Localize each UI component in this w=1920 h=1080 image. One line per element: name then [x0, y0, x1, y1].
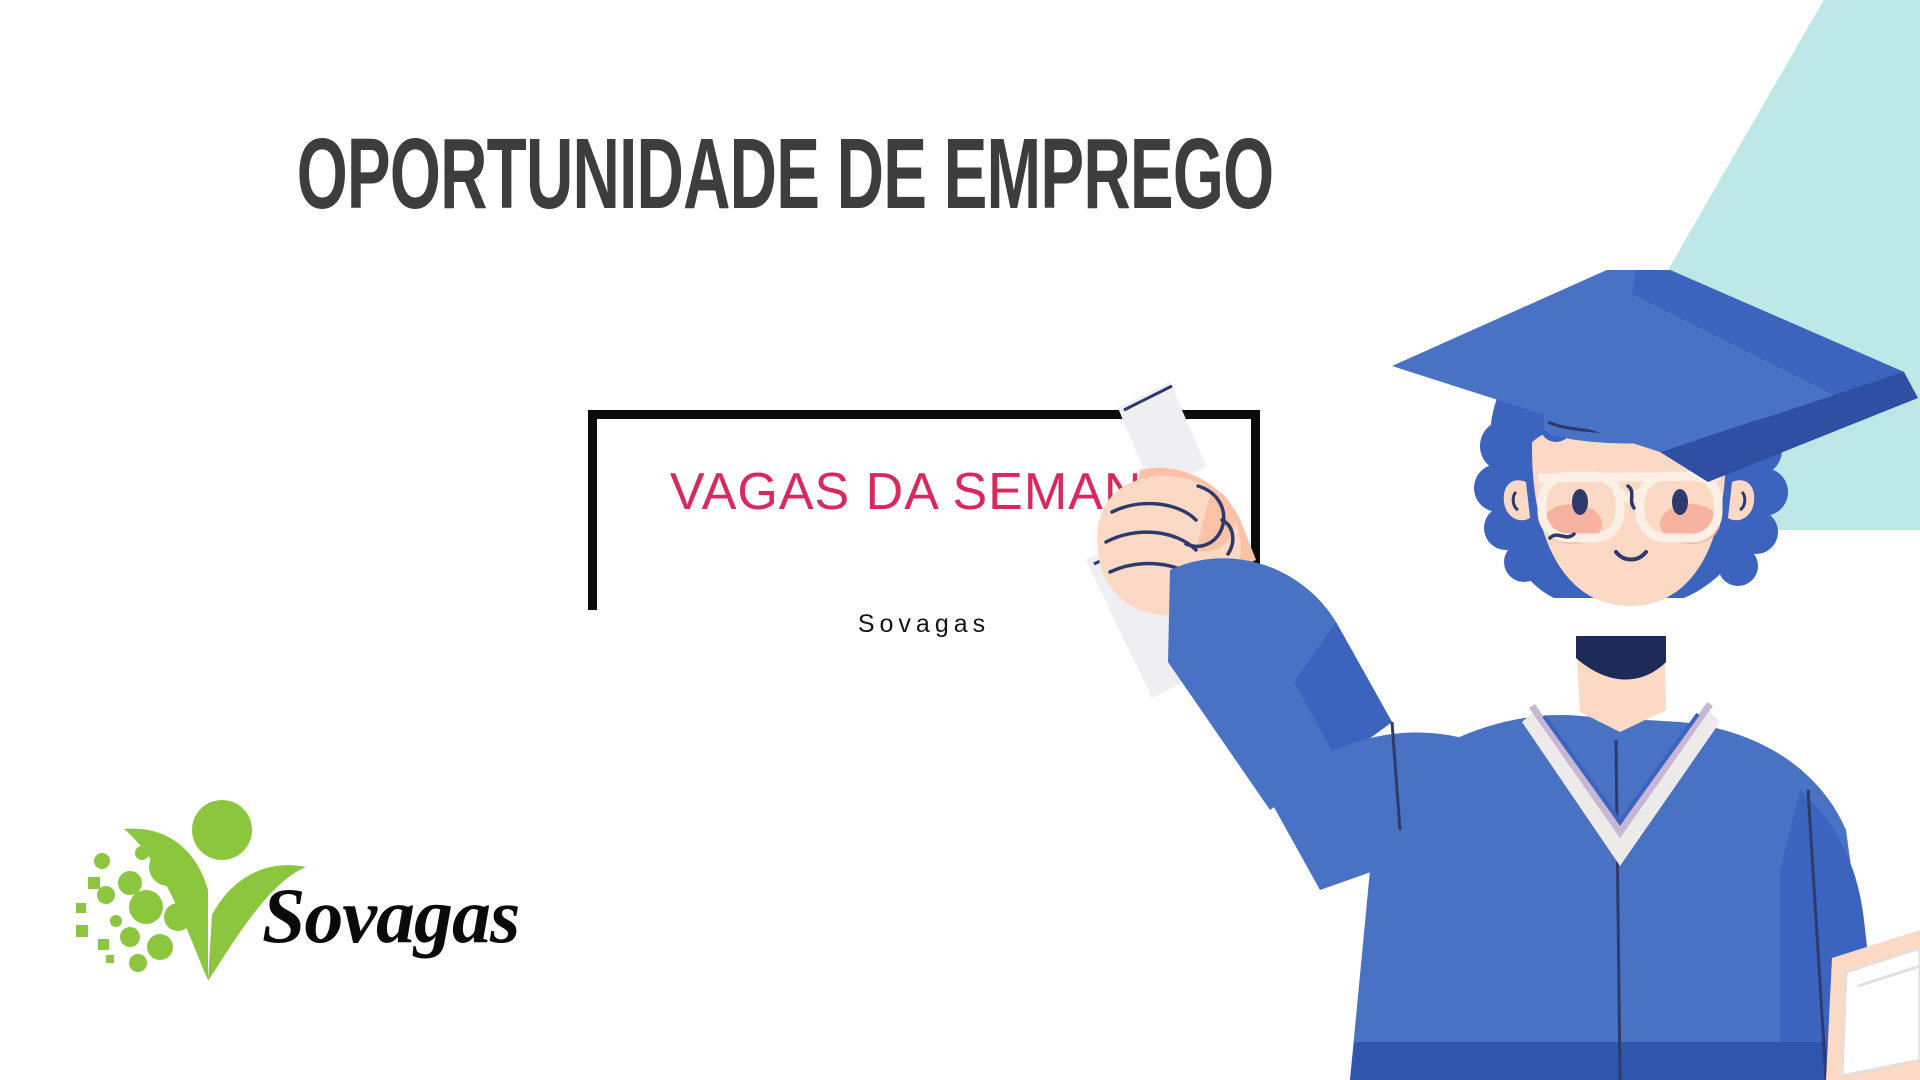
- graduation-gown: [1350, 715, 1884, 1080]
- graduation-cap-icon: [1392, 270, 1918, 482]
- graduate-student-illustration: [1020, 270, 1920, 1080]
- page-title: OPORTUNIDADE DE EMPREGO: [157, 125, 1413, 225]
- poster-canvas: OPORTUNIDADE DE EMPREGO VAGAS DA SEMANA …: [0, 0, 1920, 1080]
- logo-wordmark: Sovagas: [262, 871, 519, 961]
- brand-logo: Sovagas: [72, 795, 492, 985]
